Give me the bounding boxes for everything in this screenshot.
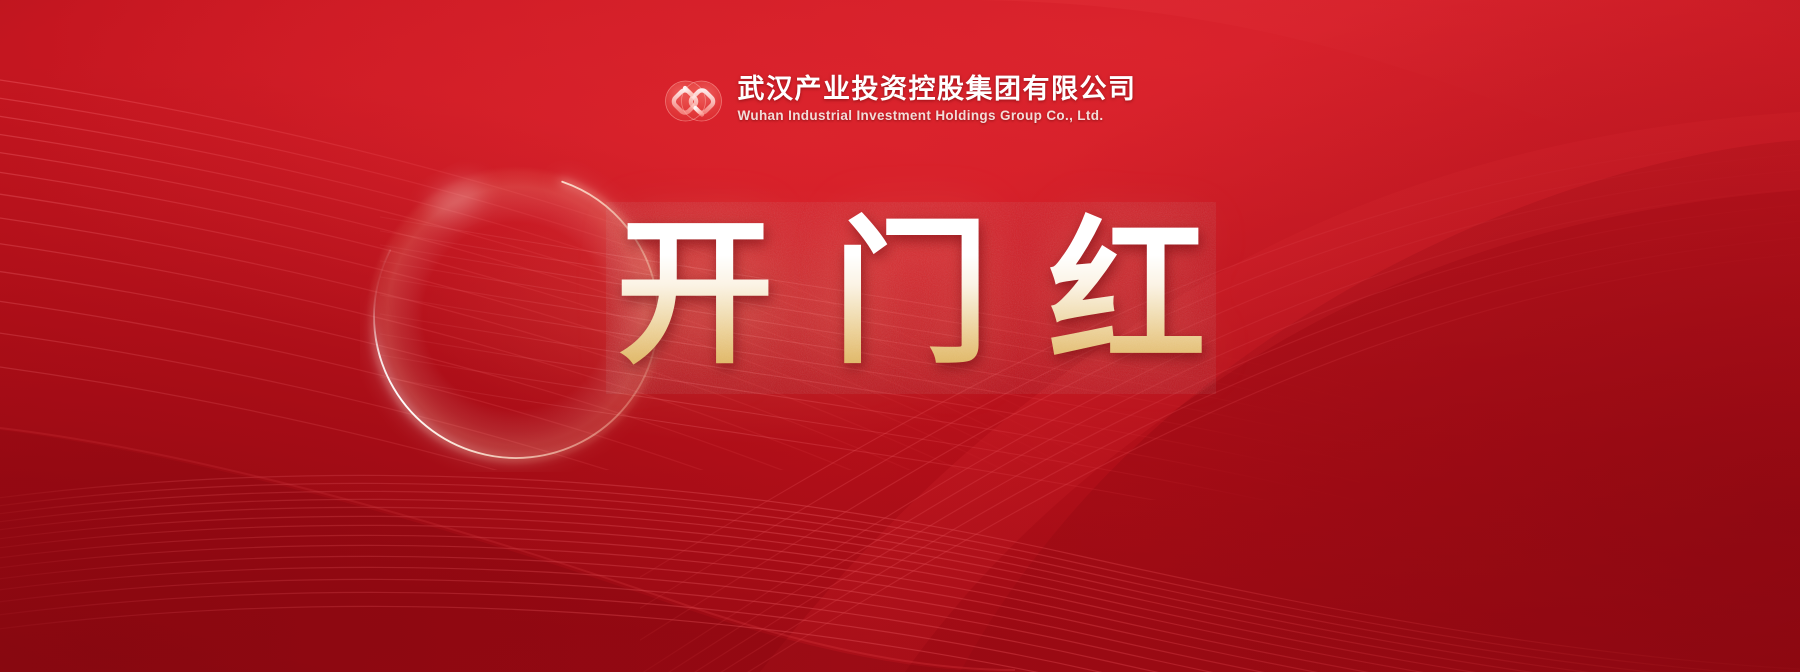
headline-characters: 开 门 红 (616, 212, 1206, 378)
promotional-banner: 武汉产业投资控股集团有限公司 Wuhan Industrial Investme… (0, 0, 1800, 672)
company-name-english: Wuhan Industrial Investment Holdings Gro… (738, 109, 1137, 123)
headline-char-1: 开 (616, 212, 774, 378)
crescent-glow-arc-icon (360, 160, 672, 472)
headline-block: 开 门 红 (0, 212, 1800, 378)
headline-char-3: 红 (1048, 212, 1206, 378)
headline-backglow (330, 150, 1170, 480)
company-logo-block: 武汉产业投资控股集团有限公司 Wuhan Industrial Investme… (664, 72, 1137, 126)
headline-paper-texture (606, 202, 1216, 394)
interlocking-rings-logo-icon (664, 72, 724, 126)
headline-char-2: 门 (832, 212, 990, 378)
company-name-chinese: 武汉产业投资控股集团有限公司 (738, 76, 1137, 103)
company-logo-text: 武汉产业投资控股集团有限公司 Wuhan Industrial Investme… (738, 76, 1137, 123)
